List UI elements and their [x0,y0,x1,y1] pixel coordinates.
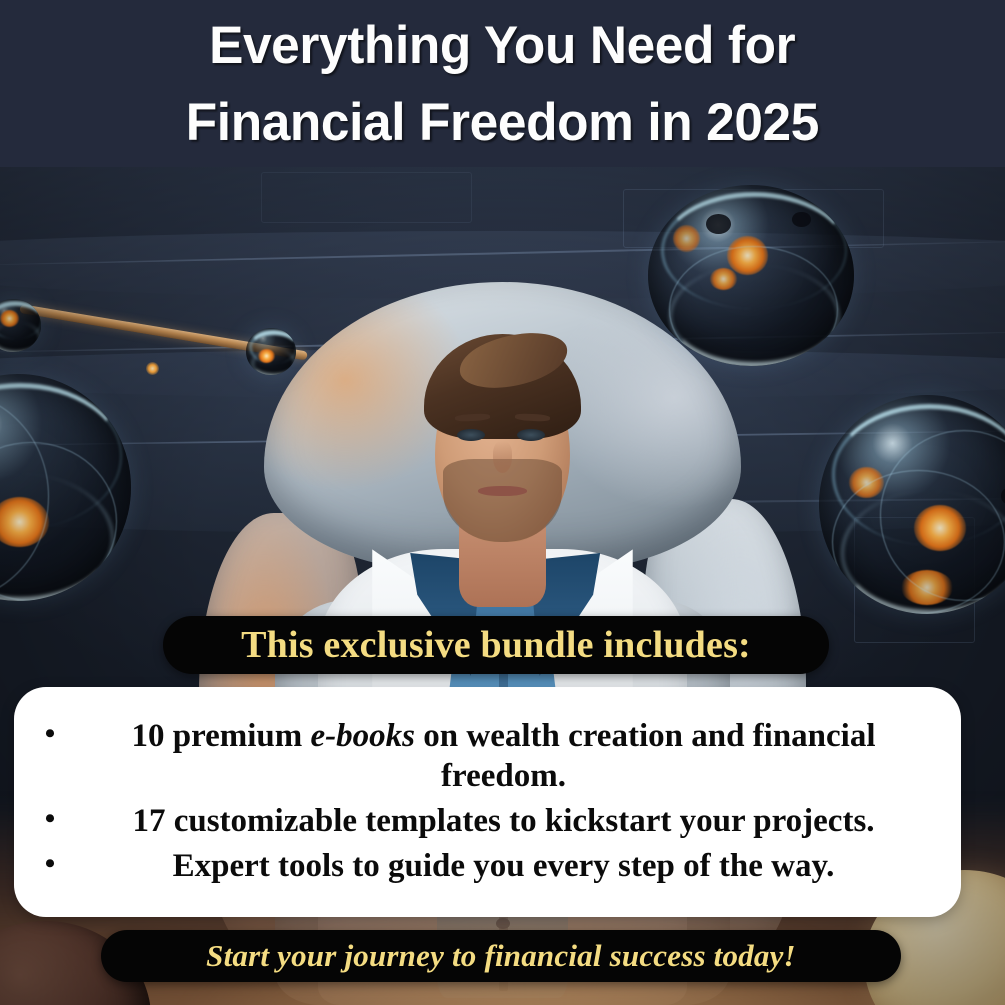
sphere-speck [792,212,811,226]
ember-glow [258,349,275,363]
cta-label: Start your journey to financial success … [206,938,796,974]
glass-sphere-top-right [648,185,854,366]
eye-right [517,429,545,441]
sphere-inner-arc [832,470,1005,614]
poster-canvas: Everything You Need for Financial Freedo… [0,0,1005,1005]
headline-line-1: Everything You Need for [209,8,795,84]
bundle-includes-label: This exclusive bundle includes: [241,623,751,667]
glass-sphere-right [819,395,1005,614]
list-item-text: 10 premium e-books on wealth creation an… [70,716,945,797]
header-banner: Everything You Need for Financial Freedo… [0,0,1005,167]
eye-left [457,429,485,441]
list-item-text-part: on wealth creation and financial freedom… [415,718,876,795]
glass-sphere-small-mid-left [246,328,296,375]
sphere-inner-arc [880,430,1005,601]
list-item-text-part: 10 premium [131,718,310,754]
ember-glow [0,497,49,547]
ember-glow [710,268,737,290]
headline-line-2: Financial Freedom in 2025 [186,85,819,161]
bundle-list-card: • 10 premium e-books on wealth creation … [14,687,961,917]
list-item: • Expert tools to guide you every step o… [30,846,945,887]
sphere-inner-arc [0,392,49,601]
cta-banner[interactable]: Start your journey to financial success … [101,930,901,982]
sphere-inner-arc [0,442,117,601]
bundle-includes-banner: This exclusive bundle includes: [163,616,829,674]
list-item-text: 17 customizable templates to kickstart y… [70,801,945,842]
list-item-text: Expert tools to guide you every step of … [70,846,945,887]
bullet-icon: • [30,716,70,753]
list-item-emphasis: e-books [311,718,415,754]
nose [493,441,513,473]
sphere-inner-arc [669,246,838,365]
bullet-icon: • [30,846,70,883]
list-item: • 10 premium e-books on wealth creation … [30,716,945,797]
ember-glow [0,310,19,326]
mouth [478,486,527,496]
glass-sphere-small-top-left [0,299,41,353]
list-item: • 17 customizable templates to kickstart… [30,801,945,842]
ember-glow [673,225,700,252]
sphere-speck [706,214,731,234]
ember-glow [914,505,966,551]
glow-dot [146,362,159,375]
wall-panel [261,172,472,222]
glass-sphere-left [0,374,131,601]
ember-glow [901,570,953,605]
bullet-icon: • [30,801,70,838]
